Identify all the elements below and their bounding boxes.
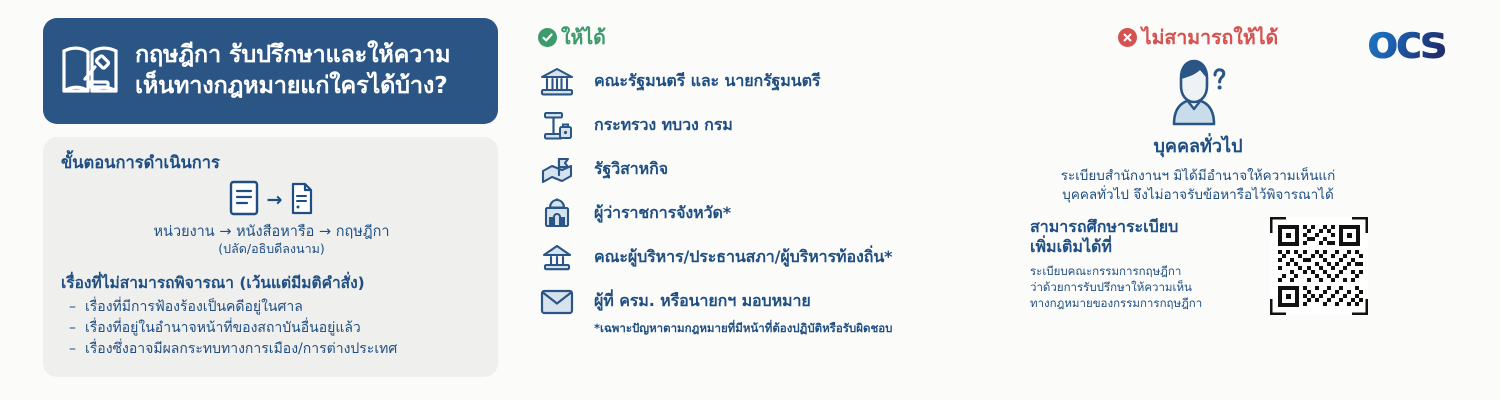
left-column: กฤษฎีกา รับปรึกษาและให้ความ เห็นทางกฎหมา… xyxy=(43,18,498,377)
process-heading: ขั้นตอนการดำเนินการ xyxy=(61,150,482,176)
exclusion-label: เรื่องที่มีการฟ้องร้องเป็นคดีอยู่ในศาล xyxy=(85,297,303,318)
provincial-hall-icon xyxy=(538,197,576,231)
list-item-label: กระทรวง ทบวง กรม xyxy=(594,113,733,138)
cannot-provide-label: ไม่สามารถให้ได้ xyxy=(1142,28,1278,48)
flow-sublabel: (ปลัด/อธิบดีลงนาม) xyxy=(61,241,482,257)
list-item-label: รัฐวิสาหกิจ xyxy=(594,157,668,182)
person-question-icon xyxy=(1028,58,1368,126)
qr-cta-line-1: สามารถศึกษาระเบียบ xyxy=(1030,217,1260,237)
exclusion-item: – เรื่องซึ่งอาจมีผลกระทบทางการเมือง/การต… xyxy=(61,339,482,360)
arrow-right-icon: → xyxy=(267,191,283,210)
map-flag-icon xyxy=(538,153,576,187)
list-dash: – xyxy=(69,297,76,318)
list-item: รัฐวิสาหกิจ xyxy=(538,148,1058,192)
envelope-icon xyxy=(538,285,576,319)
title-text: กฤษฎีกา รับปรึกษาและให้ความ เห็นทางกฎหมา… xyxy=(135,39,450,100)
title-banner: กฤษฎีกา รับปรึกษาและให้ความ เห็นทางกฎหมา… xyxy=(43,18,498,124)
check-circle-icon xyxy=(538,28,557,47)
list-item: ผู้ที่ ครม. หรือนายกฯ มอบหมาย xyxy=(538,280,1058,324)
cannot-provide-header: ไม่สามารถให้ได้ xyxy=(1028,28,1368,48)
can-provide-label: ให้ได้ xyxy=(561,28,606,48)
qr-cta: สามารถศึกษาระเบียบ เพิ่มเติมได้ที่ xyxy=(1030,217,1260,257)
person-description: ระเบียบสำนักงานฯ มิได้มีอำนาจให้ความเห็น… xyxy=(1028,167,1368,205)
list-item-label: คณะผู้บริหาร/ประธานสภา/ผู้บริหารท้องถิ่น… xyxy=(594,245,892,270)
qr-subtext-line-2: ว่าด้วยการรับปรึกษาให้ความเห็น xyxy=(1030,280,1260,296)
cannot-provide-column: ไม่สามารถให้ได้ บุคคลทั่วไป ระเบียบสำนัก… xyxy=(1028,28,1368,315)
list-item-label: ผู้ว่าราชการจังหวัด* xyxy=(594,201,731,226)
infographic-canvas: กฤษฎีกา รับปรึกษาและให้ความ เห็นทางกฎหมา… xyxy=(0,0,1500,400)
qr-cta-line-2: เพิ่มเติมได้ที่ xyxy=(1030,237,1260,257)
book-gavel-icon xyxy=(59,41,121,99)
qr-text-column: สามารถศึกษาระเบียบ เพิ่มเติมได้ที่ ระเบี… xyxy=(1028,217,1260,312)
document-note-icon xyxy=(290,182,314,219)
local-government-icon xyxy=(538,241,576,275)
title-line-2: เห็นทางกฎหมายแก่ใครได้บ้าง? xyxy=(135,70,450,101)
qr-subtext-line-3: ทางกฎหมายของกรรมการกฤษฎีกา xyxy=(1030,296,1260,312)
person-description-line-2: บุคคลทั่วไป จึงไม่อาจรับข้อหารือไว้พิจาร… xyxy=(1028,186,1368,205)
qr-subtext-line-1: ระเบียบคณะกรรมการกฤษฎีกา xyxy=(1030,264,1260,280)
list-item: กระทรวง ทบวง กรม xyxy=(538,104,1058,148)
person-description-line-1: ระเบียบสำนักงานฯ มิได้มีอำนาจให้ความเห็น… xyxy=(1028,167,1368,186)
list-item: ผู้ว่าราชการจังหวัด* xyxy=(538,192,1058,236)
bank-building-icon xyxy=(538,65,576,99)
person-caption: บุคคลทั่วไป xyxy=(1028,131,1368,160)
ministry-pillar-icon xyxy=(538,109,576,143)
list-item-label: ผู้ที่ ครม. หรือนายกฯ มอบหมาย xyxy=(594,289,811,314)
list-item-label: คณะรัฐมนตรี และ นายกรัฐมนตรี xyxy=(594,69,820,94)
qr-subtext: ระเบียบคณะกรรมการกฤษฎีกา ว่าด้วยการรับปร… xyxy=(1030,264,1260,312)
process-flow: → หน่วยงาน → หนังสือหารือ → กฤษฎีกา xyxy=(61,180,482,257)
exclusion-item: – เรื่องที่อยู่ในอำนาจหน้าที่ของสถาบันอื… xyxy=(61,318,482,339)
ocs-logo: ocs xyxy=(1367,22,1479,66)
process-panel: ขั้นตอนการดำเนินการ → xyxy=(43,137,498,377)
exclusion-label: เรื่องที่อยู่ในอำนาจหน้าที่ของสถาบันอื่น… xyxy=(85,318,361,339)
exclusions-heading: เรื่องที่ไม่สามารถพิจารณา (เว้นแต่มีมติค… xyxy=(61,270,482,295)
qr-block: สามารถศึกษาระเบียบ เพิ่มเติมได้ที่ ระเบี… xyxy=(1028,217,1368,315)
list-dash: – xyxy=(69,318,76,339)
flow-icon-row: → xyxy=(61,180,482,220)
x-circle-icon xyxy=(1118,28,1137,47)
list-item: คณะผู้บริหาร/ประธานสภา/ผู้บริหารท้องถิ่น… xyxy=(538,236,1058,280)
list-item: คณะรัฐมนตรี และ นายกรัฐมนตรี xyxy=(538,60,1058,104)
exclusion-item: – เรื่องที่มีการฟ้องร้องเป็นคดีอยู่ในศาล xyxy=(61,297,482,318)
can-provide-list: คณะรัฐมนตรี และ นายกรัฐมนตรี กระทรวง ทบว… xyxy=(538,60,1058,338)
qr-code-icon[interactable] xyxy=(1270,217,1368,315)
can-provide-header: ให้ได้ xyxy=(538,28,1058,48)
can-provide-footnote: *เฉพาะปัญหาตามกฎหมายที่มีหน้าที่ต้องปฏิบ… xyxy=(594,320,1058,338)
can-provide-column: ให้ได้ คณะรัฐมนตรี และ นายกรัฐมนตรี xyxy=(538,28,1058,338)
flow-label: หน่วยงาน → หนังสือหารือ → กฤษฎีกา xyxy=(61,223,482,241)
list-dash: – xyxy=(69,339,76,360)
ocs-logo-text: ocs xyxy=(1367,22,1446,66)
document-lines-icon xyxy=(229,180,259,220)
exclusion-label: เรื่องซึ่งอาจมีผลกระทบทางการเมือง/การต่า… xyxy=(85,339,397,360)
title-line-1: กฤษฎีกา รับปรึกษาและให้ความ xyxy=(135,39,450,70)
